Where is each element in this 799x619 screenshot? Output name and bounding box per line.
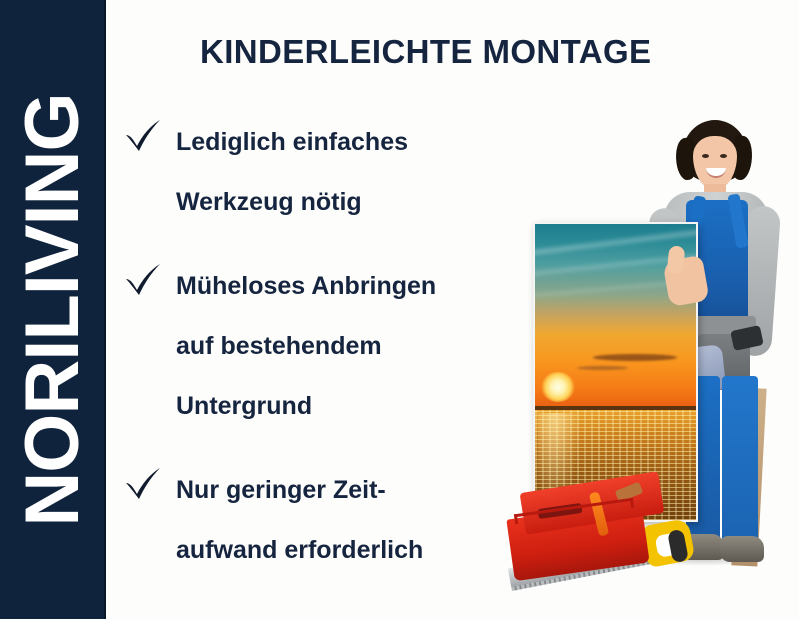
benefit-text-line: Lediglich einfaches xyxy=(176,112,524,172)
sidebar-edge xyxy=(104,0,106,619)
brand-name: NORILIVING xyxy=(15,93,91,526)
list-item: Lediglich einfaches Werkzeug nötig xyxy=(124,112,524,232)
eye-right xyxy=(720,154,727,158)
benefit-text-line: Müheloses Anbringen xyxy=(176,256,524,316)
installer-photo xyxy=(498,100,799,619)
horizon-line xyxy=(535,406,696,410)
list-item: Müheloses Anbringen auf bestehendem Unte… xyxy=(124,256,524,436)
benefit-text-line: Untergrund xyxy=(176,376,524,436)
list-item: Nur geringer Zeit- aufwand erforderlich xyxy=(124,460,524,580)
check-icon xyxy=(124,118,162,152)
check-icon xyxy=(124,262,162,296)
saw-handle xyxy=(640,518,695,568)
tool-group xyxy=(498,470,728,610)
benefit-text-line: auf bestehendem xyxy=(176,316,524,376)
benefit-text-line: aufwand erforderlich xyxy=(176,520,524,580)
benefit-text-line: Nur geringer Zeit- xyxy=(176,460,524,520)
benefit-list: Lediglich einfaches Werkzeug nötig Mühel… xyxy=(124,112,524,604)
brand-sidebar: NORILIVING xyxy=(0,0,106,619)
benefit-text-line: Werkzeug nötig xyxy=(176,172,524,232)
eye-left xyxy=(702,154,709,158)
page-title: KINDERLEICHTE MONTAGE xyxy=(200,33,651,71)
check-icon xyxy=(124,466,162,500)
face xyxy=(693,136,737,190)
banner-root: NORILIVING KINDERLEICHTE MONTAGE Ledigli… xyxy=(0,0,799,619)
